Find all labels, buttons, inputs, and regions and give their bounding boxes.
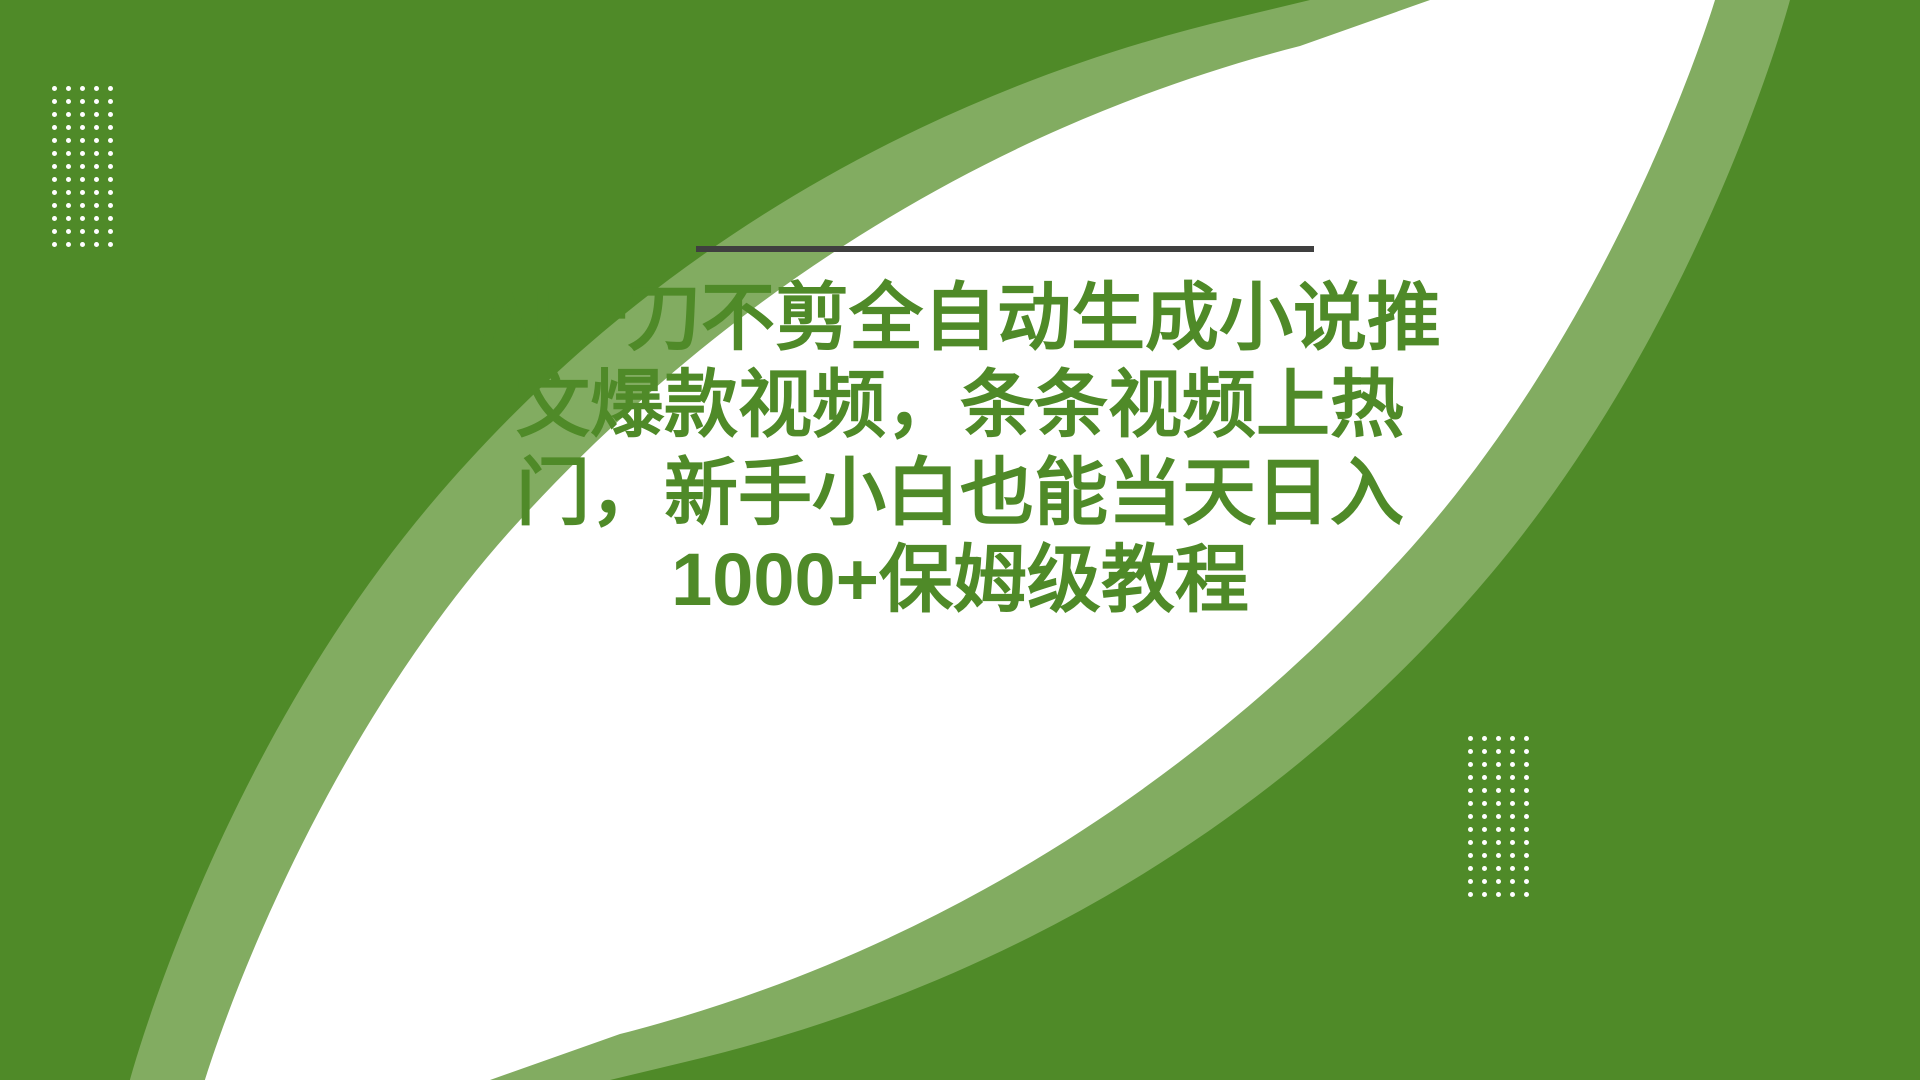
- poster-canvas: AI一刀不剪全自动生成小说推 文爆款视频，条条视频上热 门，新手小白也能当天日入…: [0, 0, 1920, 1080]
- headline-line-4: 1000+保姆级教程: [370, 536, 1550, 623]
- page-title: AI一刀不剪全自动生成小说推 文爆款视频，条条视频上热 门，新手小白也能当天日入…: [370, 274, 1550, 623]
- headline-line-1: AI一刀不剪全自动生成小说推: [370, 274, 1550, 361]
- headline-line-2: 文爆款视频，条条视频上热: [370, 361, 1550, 448]
- poster-content: AI一刀不剪全自动生成小说推 文爆款视频，条条视频上热 门，新手小白也能当天日入…: [0, 0, 1920, 1080]
- headline-line-3: 门，新手小白也能当天日入: [370, 449, 1550, 536]
- title-divider-rule: [696, 246, 1314, 252]
